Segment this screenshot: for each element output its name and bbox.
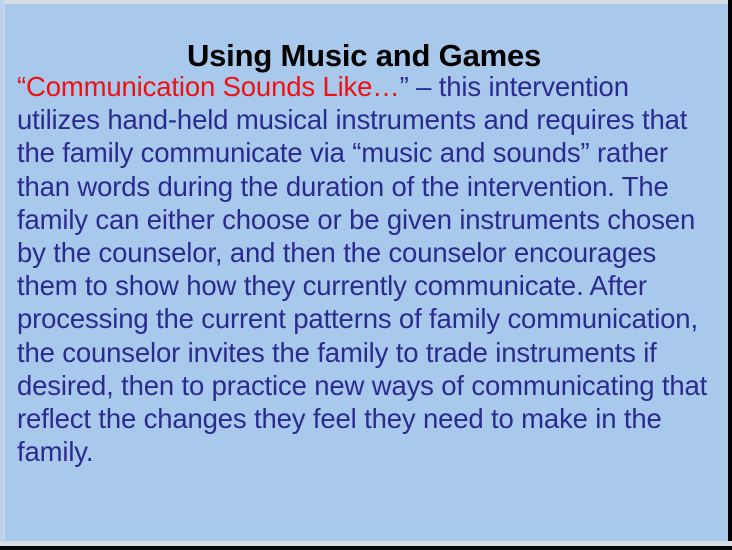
slide-border-top [0, 0, 732, 4]
slide-border-right [728, 0, 732, 550]
slide-body-paragraph: “Communication Sounds Like…” – this inte… [17, 70, 717, 468]
presentation-slide: Using Music and Games “Communication Sou… [0, 0, 732, 550]
highlighted-intervention-name: “Communication Sounds Like… [17, 71, 400, 102]
slide-border-left [0, 0, 5, 550]
body-remainder: ” – this intervention utilizes hand-held… [17, 71, 707, 467]
slide-border-bottom [0, 546, 732, 550]
slide-body-text: “Communication Sounds Like…” – this inte… [17, 70, 717, 468]
slide-title: Using Music and Games [0, 38, 728, 74]
